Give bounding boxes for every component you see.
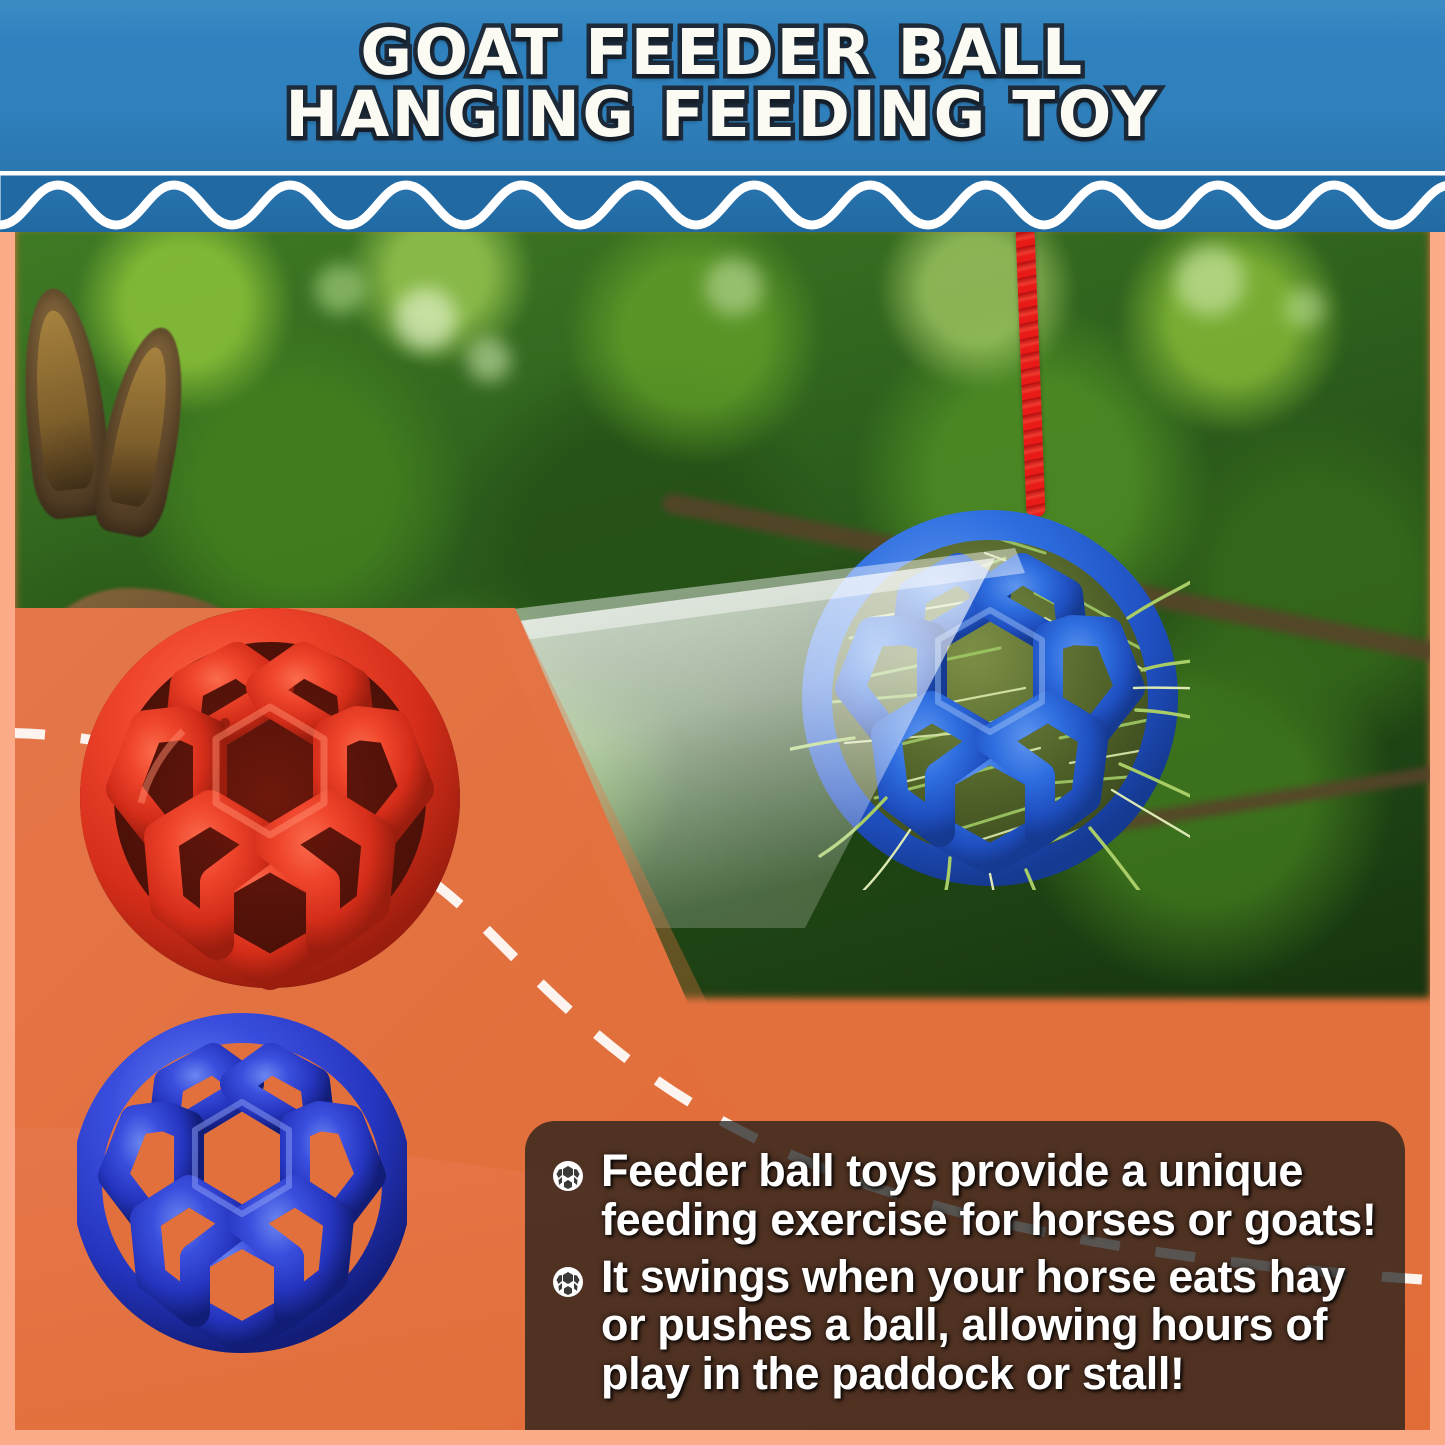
bokeh-dot: [1175, 246, 1245, 316]
poster-root: Feeder ball toys provide a unique feedin…: [0, 0, 1445, 1445]
bokeh-dot: [1285, 288, 1325, 328]
feature-item: It swings when your horse eats hay or pu…: [551, 1253, 1377, 1399]
bokeh-dot: [705, 258, 763, 316]
page-title: GOAT FEEDER BALL HANGING FEEDING TOY: [0, 22, 1445, 147]
blue-feeder-ball: [77, 1008, 407, 1358]
scallop-edge-icon: [0, 171, 1445, 232]
header-banner: GOAT FEEDER BALL HANGING FEEDING TOY: [0, 0, 1445, 232]
feeder-ball-icon: [551, 1265, 585, 1299]
feature-item: Feeder ball toys provide a unique feedin…: [551, 1147, 1377, 1245]
blue-feeder-ball-hanging: [790, 498, 1190, 890]
photo-stage: Feeder ball toys provide a unique feedin…: [15, 228, 1430, 1430]
bokeh-dot: [467, 338, 511, 382]
bokeh-dot: [315, 264, 365, 314]
feeder-ball-icon: [551, 1159, 585, 1193]
feature-text: It swings when your horse eats hay or pu…: [601, 1253, 1377, 1399]
red-feeder-ball: [75, 603, 465, 993]
bokeh-dot: [395, 288, 457, 350]
feature-callout-box: Feeder ball toys provide a unique feedin…: [525, 1121, 1405, 1430]
feature-text: Feeder ball toys provide a unique feedin…: [601, 1147, 1377, 1245]
